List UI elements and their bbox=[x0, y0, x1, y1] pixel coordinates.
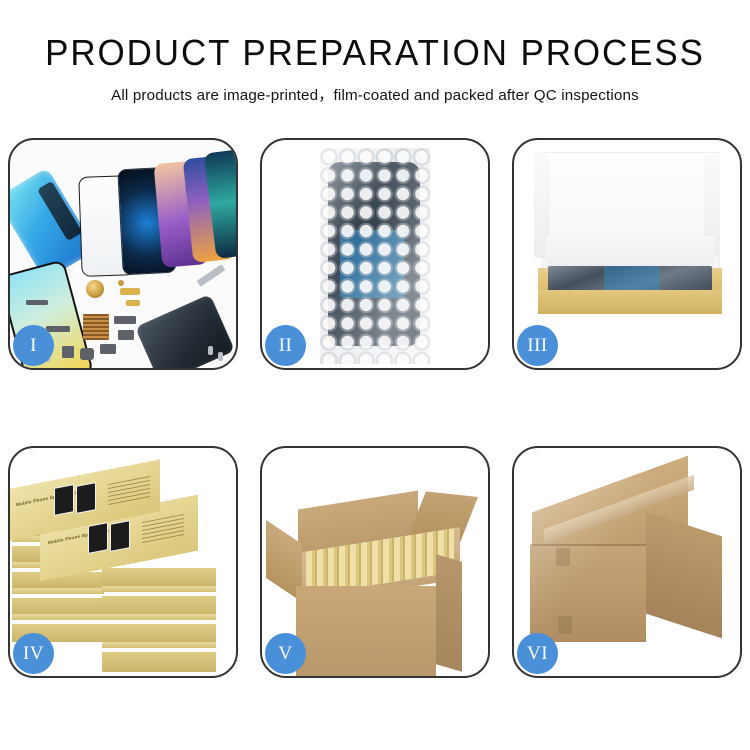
box-phone-image bbox=[54, 484, 74, 516]
box-side bbox=[12, 598, 104, 614]
box-side bbox=[102, 568, 216, 586]
page-title: PRODUCT PREPARATION PROCESS bbox=[11, 34, 739, 72]
header: PRODUCT PREPARATION PROCESS All products… bbox=[0, 0, 750, 105]
box-edge bbox=[12, 614, 104, 620]
bubble-wrap-texture bbox=[320, 148, 430, 364]
kraft-tray-front bbox=[538, 290, 722, 314]
process-step-2: II bbox=[260, 138, 490, 370]
box-side bbox=[102, 596, 216, 614]
earpiece-part-icon bbox=[80, 348, 94, 360]
box-phone-image bbox=[88, 522, 108, 554]
carton-side-face bbox=[646, 512, 722, 639]
process-step-1: I bbox=[8, 138, 238, 370]
box-side bbox=[102, 652, 216, 672]
tweezers-icon bbox=[197, 264, 226, 287]
carton-right-face bbox=[436, 554, 462, 671]
box-edge bbox=[102, 614, 216, 620]
flex-cable-icon bbox=[120, 288, 140, 295]
process-grid: I II III bbox=[8, 138, 742, 678]
carton-front-face bbox=[530, 546, 646, 642]
carton-hand-hole bbox=[556, 548, 570, 566]
screw-icon bbox=[218, 352, 223, 361]
step-badge-2: II bbox=[265, 325, 306, 366]
vibrator-part-icon bbox=[62, 346, 74, 358]
carton-front-face bbox=[296, 586, 436, 676]
screw-icon bbox=[118, 280, 124, 286]
step-badge-6: VI bbox=[517, 633, 558, 674]
page-subtitle: All products are image-printed，film-coat… bbox=[0, 83, 750, 105]
box-phone-image bbox=[76, 482, 96, 514]
carton-hand-hole bbox=[558, 616, 572, 634]
connector-part-icon bbox=[46, 326, 70, 332]
box-edge bbox=[102, 586, 216, 592]
process-step-3: III bbox=[512, 138, 742, 370]
box-phone-image bbox=[110, 520, 130, 552]
process-step-5: V bbox=[260, 446, 490, 678]
process-step-6: VI bbox=[512, 446, 742, 678]
step-badge-5: V bbox=[265, 633, 306, 674]
charging-port-icon bbox=[100, 344, 116, 354]
copper-mesh-part-icon bbox=[83, 314, 109, 340]
box-side bbox=[102, 624, 216, 642]
button-flex-icon bbox=[114, 316, 136, 324]
process-step-4: Mobile Phone Spare Parts Mobile Phone Sp… bbox=[8, 446, 238, 678]
carton-seam-line bbox=[530, 544, 646, 546]
step-badge-3: III bbox=[517, 325, 558, 366]
small-part-icon bbox=[26, 300, 48, 305]
step-badge-1: I bbox=[13, 325, 54, 366]
infographic-page: PRODUCT PREPARATION PROCESS All products… bbox=[0, 0, 750, 750]
screw-icon bbox=[208, 346, 213, 355]
box-edge bbox=[102, 642, 216, 648]
step-badge-4: IV bbox=[13, 633, 54, 674]
speaker-part-icon bbox=[86, 280, 104, 298]
box-edge bbox=[12, 588, 104, 594]
flex-cable-icon bbox=[126, 300, 140, 306]
camera-module-icon bbox=[118, 330, 134, 340]
